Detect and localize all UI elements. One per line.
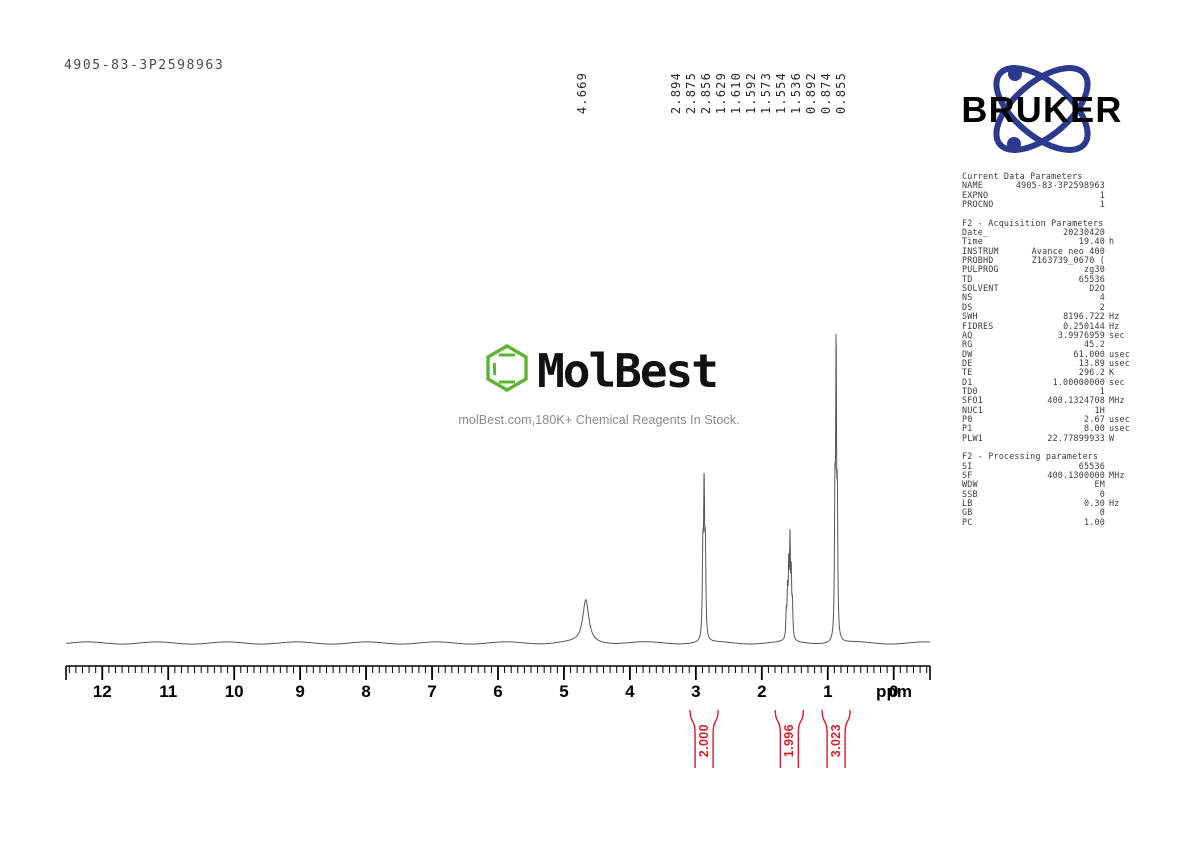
peak-label: 1.554: [775, 72, 787, 114]
peak-label: 1.573: [760, 72, 772, 114]
param-unit: [1105, 256, 1137, 265]
param-value: 1: [1004, 200, 1105, 209]
integral-value: 1.996: [783, 724, 796, 757]
axis-tick-label: 1: [823, 682, 832, 702]
integral-bracket-line: [845, 710, 850, 768]
integral-bracket-line: [798, 710, 803, 768]
axis-ruler: [0, 660, 1190, 690]
integral-value: 3.023: [830, 724, 843, 757]
peak-label: 4.669: [576, 72, 588, 114]
integral-group: 2.0001.9963.023: [0, 700, 1190, 790]
param-unit: [1105, 200, 1137, 209]
axis-tick-label: 7: [427, 682, 436, 702]
axis-tick-label: 2: [757, 682, 766, 702]
integral-brackets: [0, 700, 1190, 790]
axis-tick-label: 11: [159, 682, 177, 702]
axis-unit-label: ppm: [876, 682, 912, 702]
peak-label: 0.874: [820, 72, 832, 114]
nmr-spectrum-page: 4905-83-3P2598963 BRUKER Current Data Pa…: [0, 0, 1190, 842]
spectrum-plot: [0, 300, 1190, 650]
param-unit: h: [1105, 237, 1137, 246]
peak-label-group: 4.6692.8942.8752.8561.6291.6101.5921.573…: [0, 0, 1190, 200]
axis-tick-label: 6: [493, 682, 502, 702]
peak-label: 2.894: [670, 72, 682, 114]
spectrum-trace-svg: [0, 300, 1190, 650]
peak-label: 0.892: [805, 72, 817, 114]
axis-tick-label: 9: [295, 682, 304, 702]
axis-tick-label: 5: [559, 682, 568, 702]
param-key: PROCNO: [962, 200, 1004, 209]
param-unit: [1105, 275, 1137, 284]
axis-tick-label: 12: [93, 682, 112, 702]
peak-label: 1.629: [715, 72, 727, 114]
peak-label: 1.592: [745, 72, 757, 114]
param-unit: [1105, 265, 1137, 274]
integral-bracket-line: [822, 710, 827, 768]
peak-label: 0.855: [835, 72, 847, 114]
peak-label: 2.856: [700, 72, 712, 114]
axis-tick-label: 8: [361, 682, 370, 702]
peak-label: 2.875: [685, 72, 697, 114]
axis-tick-label: 4: [625, 682, 634, 702]
nmr-trace: [66, 334, 930, 644]
peak-label: 1.610: [730, 72, 742, 114]
param-row: PROCNO 1: [962, 200, 1137, 209]
param-value: D2O: [1004, 284, 1105, 293]
peak-label: 1.536: [790, 72, 802, 114]
axis-tick-label: 10: [225, 682, 244, 702]
integral-value: 2.000: [698, 724, 711, 757]
axis-tick-label: 3: [691, 682, 700, 702]
integral-bracket-line: [713, 710, 718, 768]
integral-bracket-line: [775, 710, 780, 768]
integral-bracket-line: [690, 710, 695, 768]
param-unit: [1105, 247, 1137, 256]
param-unit: [1105, 284, 1137, 293]
